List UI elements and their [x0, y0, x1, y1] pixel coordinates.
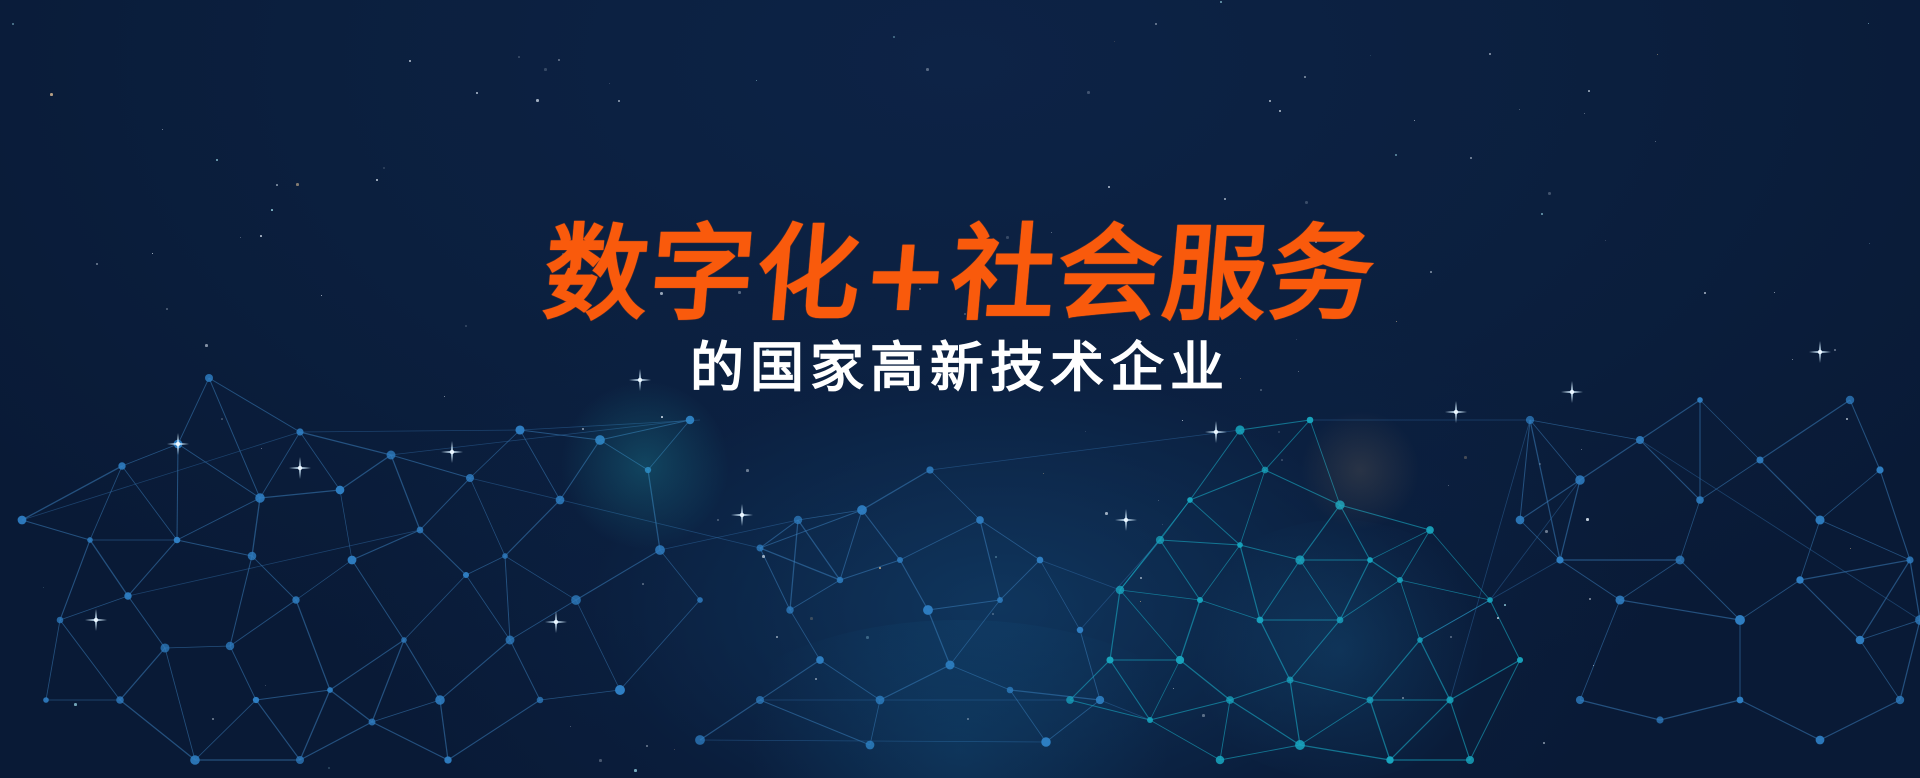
banner-headline: 数字化+社会服务 — [0, 222, 1920, 326]
banner-subline: 的国家高新技术企业 — [0, 337, 1920, 397]
glow-amber — [1300, 410, 1420, 530]
hero-banner: 数字化+社会服务 的国家高新技术企业 — [0, 0, 1920, 778]
glow-center-bottom — [700, 620, 1220, 778]
glow-blue — [1180, 520, 1500, 778]
glow-teal — [560, 380, 730, 550]
